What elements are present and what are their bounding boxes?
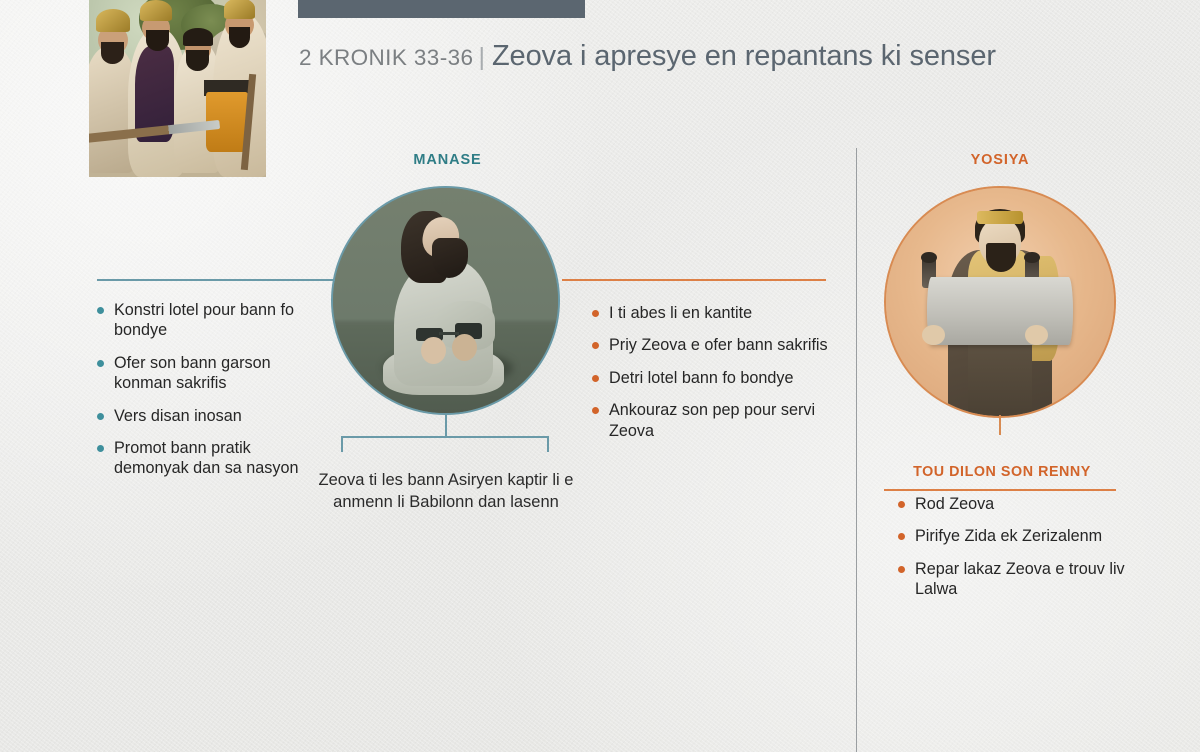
yosiya-crown xyxy=(977,211,1023,225)
thumbnail-soldier-a-beard xyxy=(101,42,124,63)
manase-caption-bracket xyxy=(330,415,562,451)
thumbnail-soldier-a-helmet xyxy=(96,9,130,32)
manase-portrait xyxy=(331,186,560,415)
renny-avan-list: Konstri lotel pour bann fo bondye Ofer s… xyxy=(95,300,300,491)
list-item: Ofer son bann garson konman sakrifis xyxy=(95,353,300,394)
list-item: Promot bann pratik demonyak dan sa nasyo… xyxy=(95,438,300,479)
yosiya-tunic xyxy=(968,334,1032,416)
manase-chain xyxy=(439,332,459,335)
thumbnail-soldier-b-helmet xyxy=(140,0,172,21)
yosiya-scroll xyxy=(927,277,1073,345)
list-item: Vers disan inosan xyxy=(95,406,300,426)
tou-dilon-rule xyxy=(884,489,1116,491)
thumbnail-soldier-d-helmet xyxy=(224,0,256,19)
list-item: Detri lotel bann fo bondye xyxy=(590,368,830,388)
title-text: Zeova i apresye en repantans ki senser xyxy=(492,40,996,72)
page-title: 2 KRONIK 33-36|Zeova i apresye en repant… xyxy=(299,40,996,73)
list-item: Priy Zeova e ofer bann sakrifis xyxy=(590,335,830,355)
title-separator: | xyxy=(478,43,485,71)
manase-label: MANASE xyxy=(330,152,565,168)
tou-dilon-list: Rod Zeova Pirifye Zida ek Zerizalenm Rep… xyxy=(896,494,1144,612)
yosiya-label: YOSIYA xyxy=(885,152,1115,168)
thumbnail-captive-hair xyxy=(183,28,213,46)
bracket-left-leg xyxy=(341,436,343,452)
bracket-right-leg xyxy=(547,436,549,452)
manasseh-captured-thumbnail xyxy=(89,0,266,177)
list-item: I ti abes li en kantite xyxy=(590,303,830,323)
yosiya-portrait xyxy=(884,186,1116,418)
manase-caption: Zeova ti les bann Asiryen kaptir li e an… xyxy=(300,470,592,514)
renny-apre-list: I ti abes li en kantite Priy Zeova e ofe… xyxy=(590,303,830,453)
list-item: Ankouraz son pep pour servi Zeova xyxy=(590,400,830,441)
section-divider xyxy=(856,148,857,752)
list-item: Rod Zeova xyxy=(896,494,1144,514)
bracket-crossbar xyxy=(341,436,549,438)
renny-apre-rule xyxy=(562,279,826,281)
yosiya-scroll-knob-right xyxy=(1024,252,1040,263)
scripture-reference: 2 KRONIK 33-36 xyxy=(299,45,473,70)
manase-hand-left xyxy=(421,337,446,364)
top-accent-bar xyxy=(298,0,585,18)
list-item: Konstri lotel pour bann fo bondye xyxy=(95,300,300,341)
yosiya-hand-right xyxy=(1025,325,1048,346)
list-item: Repar lakaz Zeova e trouv liv Lalwa xyxy=(896,559,1144,600)
bracket-stem xyxy=(445,415,447,437)
thumbnail-soldier-d-beard xyxy=(229,27,250,48)
yosiya-connector-stem xyxy=(999,415,1001,435)
thumbnail-soldier-b-beard xyxy=(146,30,169,51)
tou-dilon-heading: TOU DILON SON RENNY xyxy=(885,464,1119,480)
thumbnail-captive-beard xyxy=(186,50,209,71)
renny-avan-rule xyxy=(97,279,335,281)
list-item: Pirifye Zida ek Zerizalenm xyxy=(896,526,1144,546)
